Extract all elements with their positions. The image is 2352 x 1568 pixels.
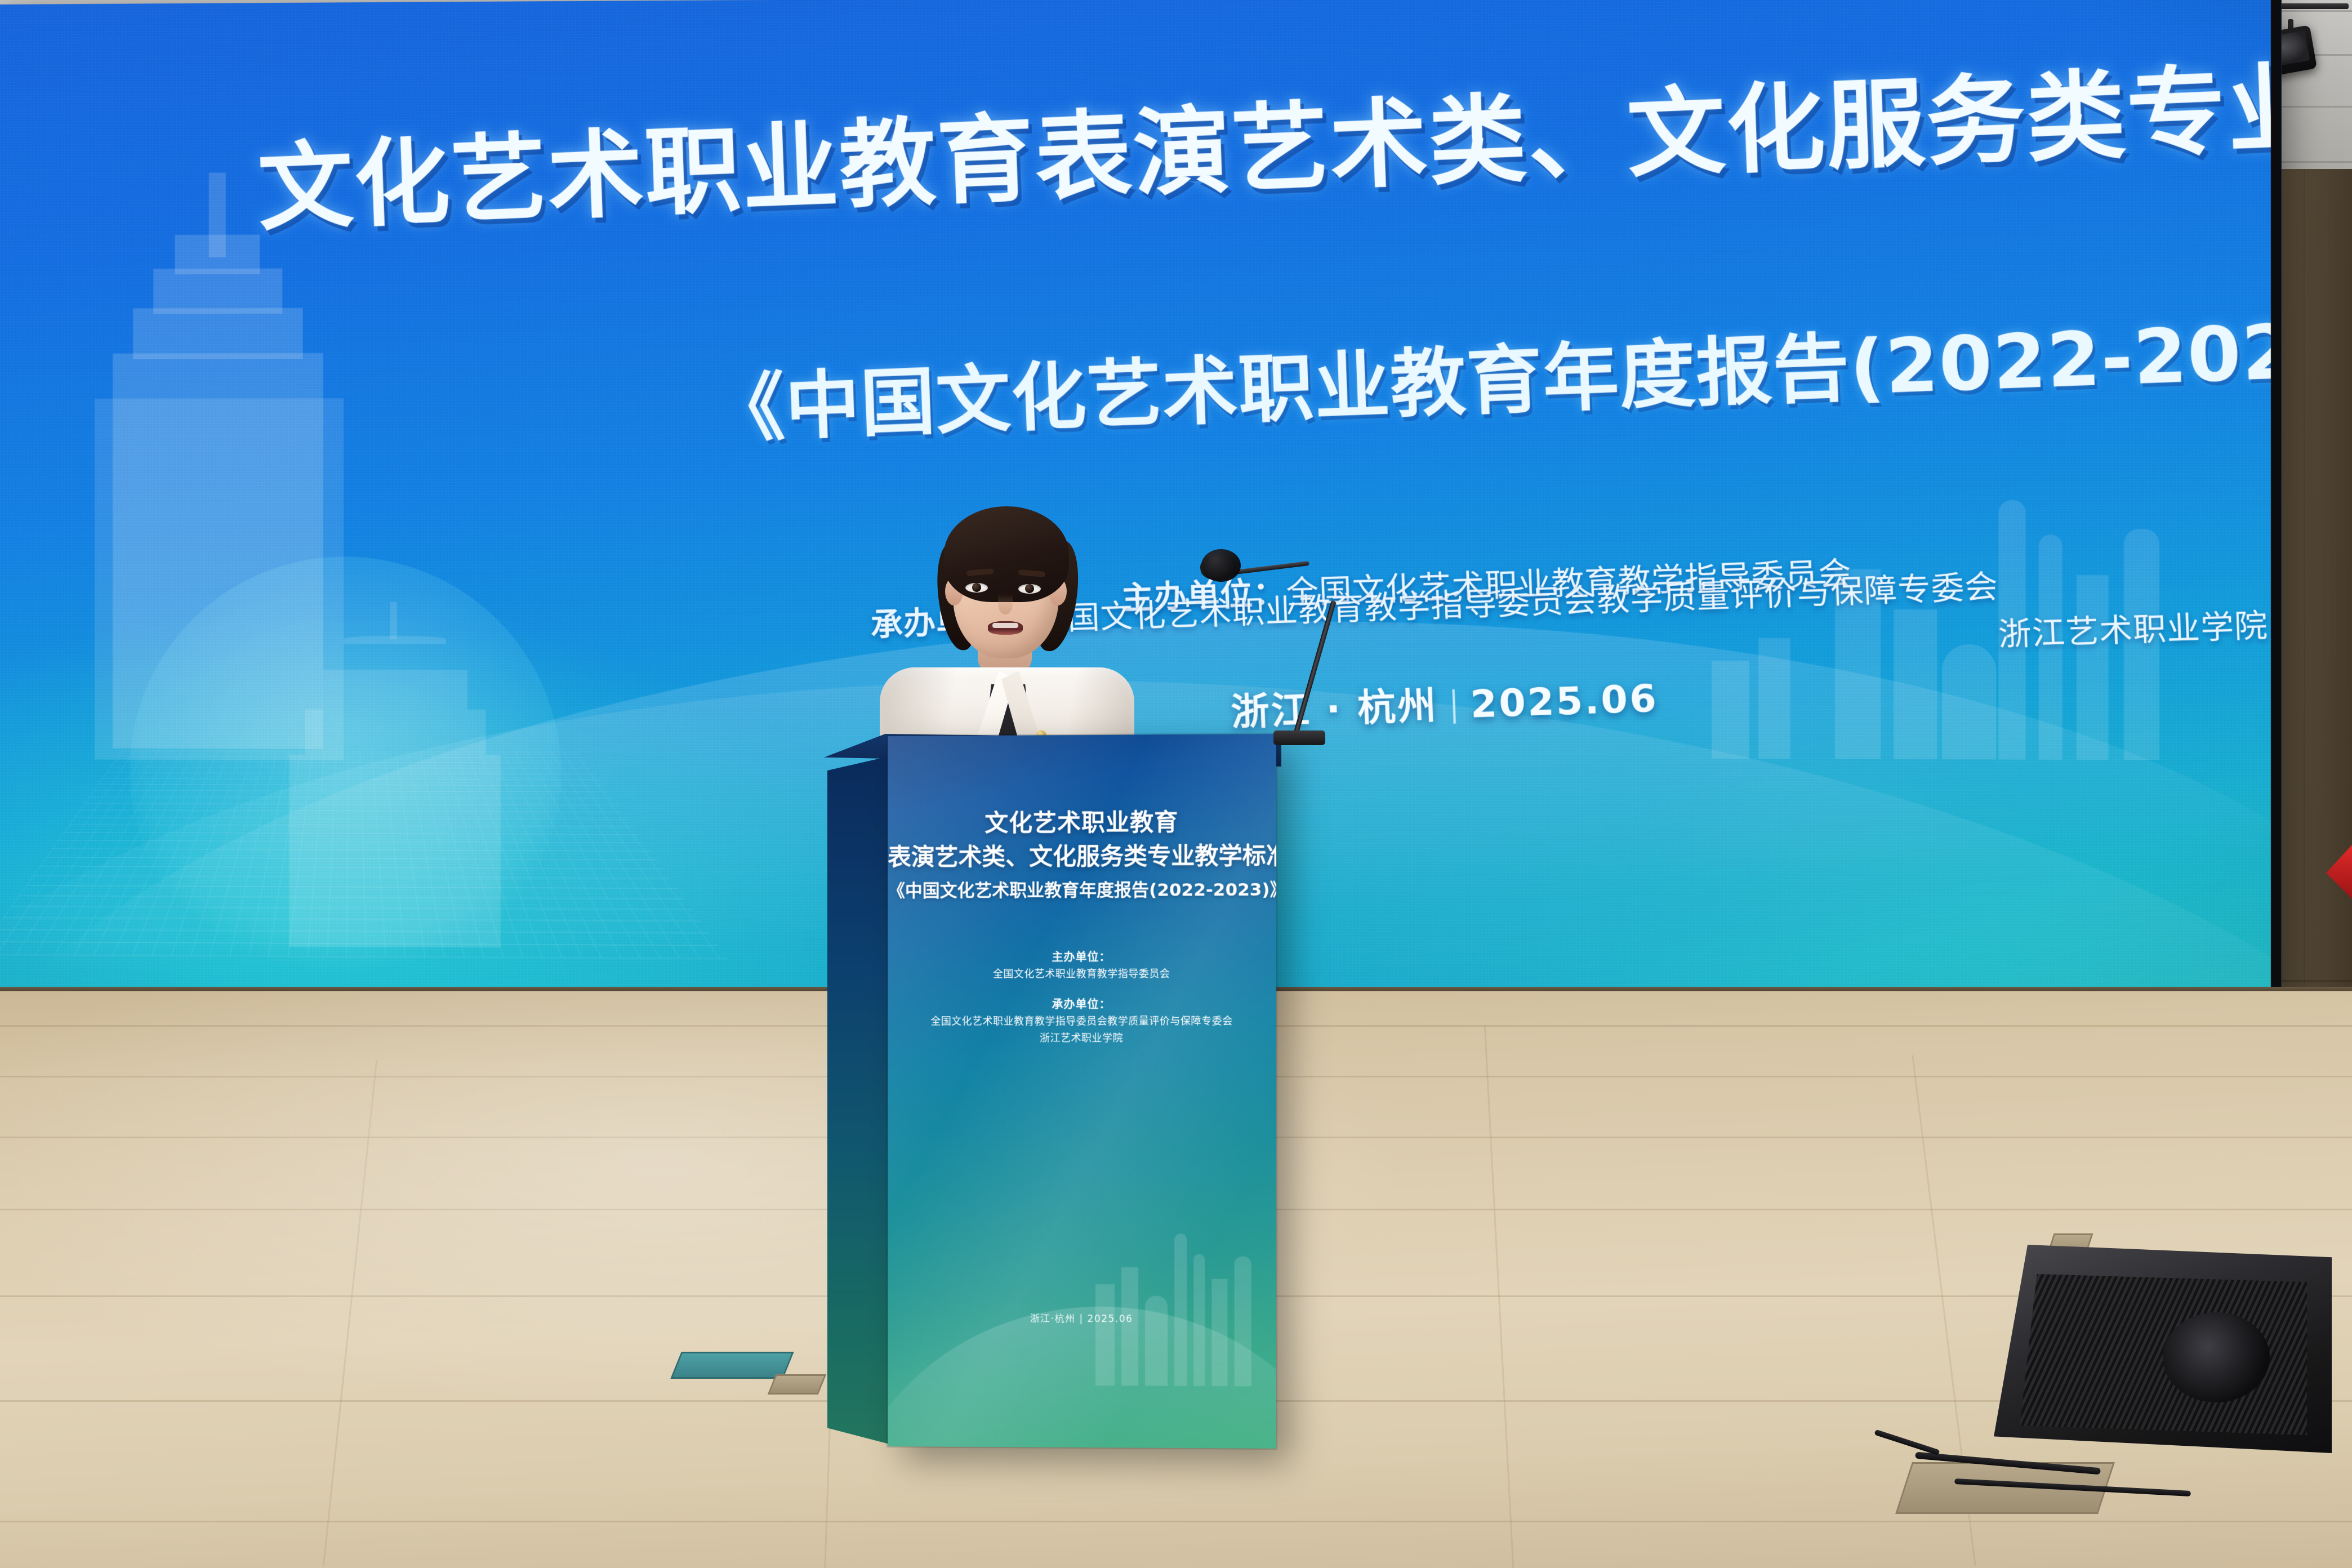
podium-lectern: 文化艺术职业教育 表演艺术类、文化服务类专业教学标准宣贯培训 《中国文化艺术职业…	[819, 735, 1343, 1467]
nose	[998, 594, 1013, 614]
hair-top	[944, 506, 1069, 602]
led-location: 浙江 · 杭州	[1230, 684, 1438, 734]
conference-hall-scene: 文化艺术职业教育表演艺术类、文化服务类专业教学标准宣贯培训 《中国文化艺术职业教…	[0, 0, 2352, 1568]
floor-panel	[768, 1374, 827, 1395]
pupil-right	[1025, 584, 1034, 593]
led-title-line2: 《中国文化艺术职业教育年度报告(2022-2023)》发布会	[708, 276, 2281, 457]
separator-bar	[1453, 689, 1456, 724]
monitor-driver	[2163, 1312, 2270, 1402]
teeth	[992, 623, 1018, 628]
podium-side-panel	[827, 755, 894, 1445]
led-date: 2025.06	[1469, 676, 1659, 727]
microphone-windscreen	[1201, 549, 1241, 582]
led-organizer-value-2: 浙江艺术职业学院	[1998, 607, 2269, 654]
led-title-line1: 文化艺术职业教育表演艺术类、文化服务类专业教学标准宣贯培训	[255, 0, 2282, 250]
floor-monitor-speaker	[1994, 1245, 2343, 1487]
microphone-base	[1273, 730, 1325, 745]
podium-light-sheen	[888, 734, 1276, 1449]
podium-front-panel: 文化艺术职业教育 表演艺术类、文化服务类专业教学标准宣贯培训 《中国文化艺术职业…	[888, 734, 1276, 1449]
pupil-left	[972, 583, 981, 592]
